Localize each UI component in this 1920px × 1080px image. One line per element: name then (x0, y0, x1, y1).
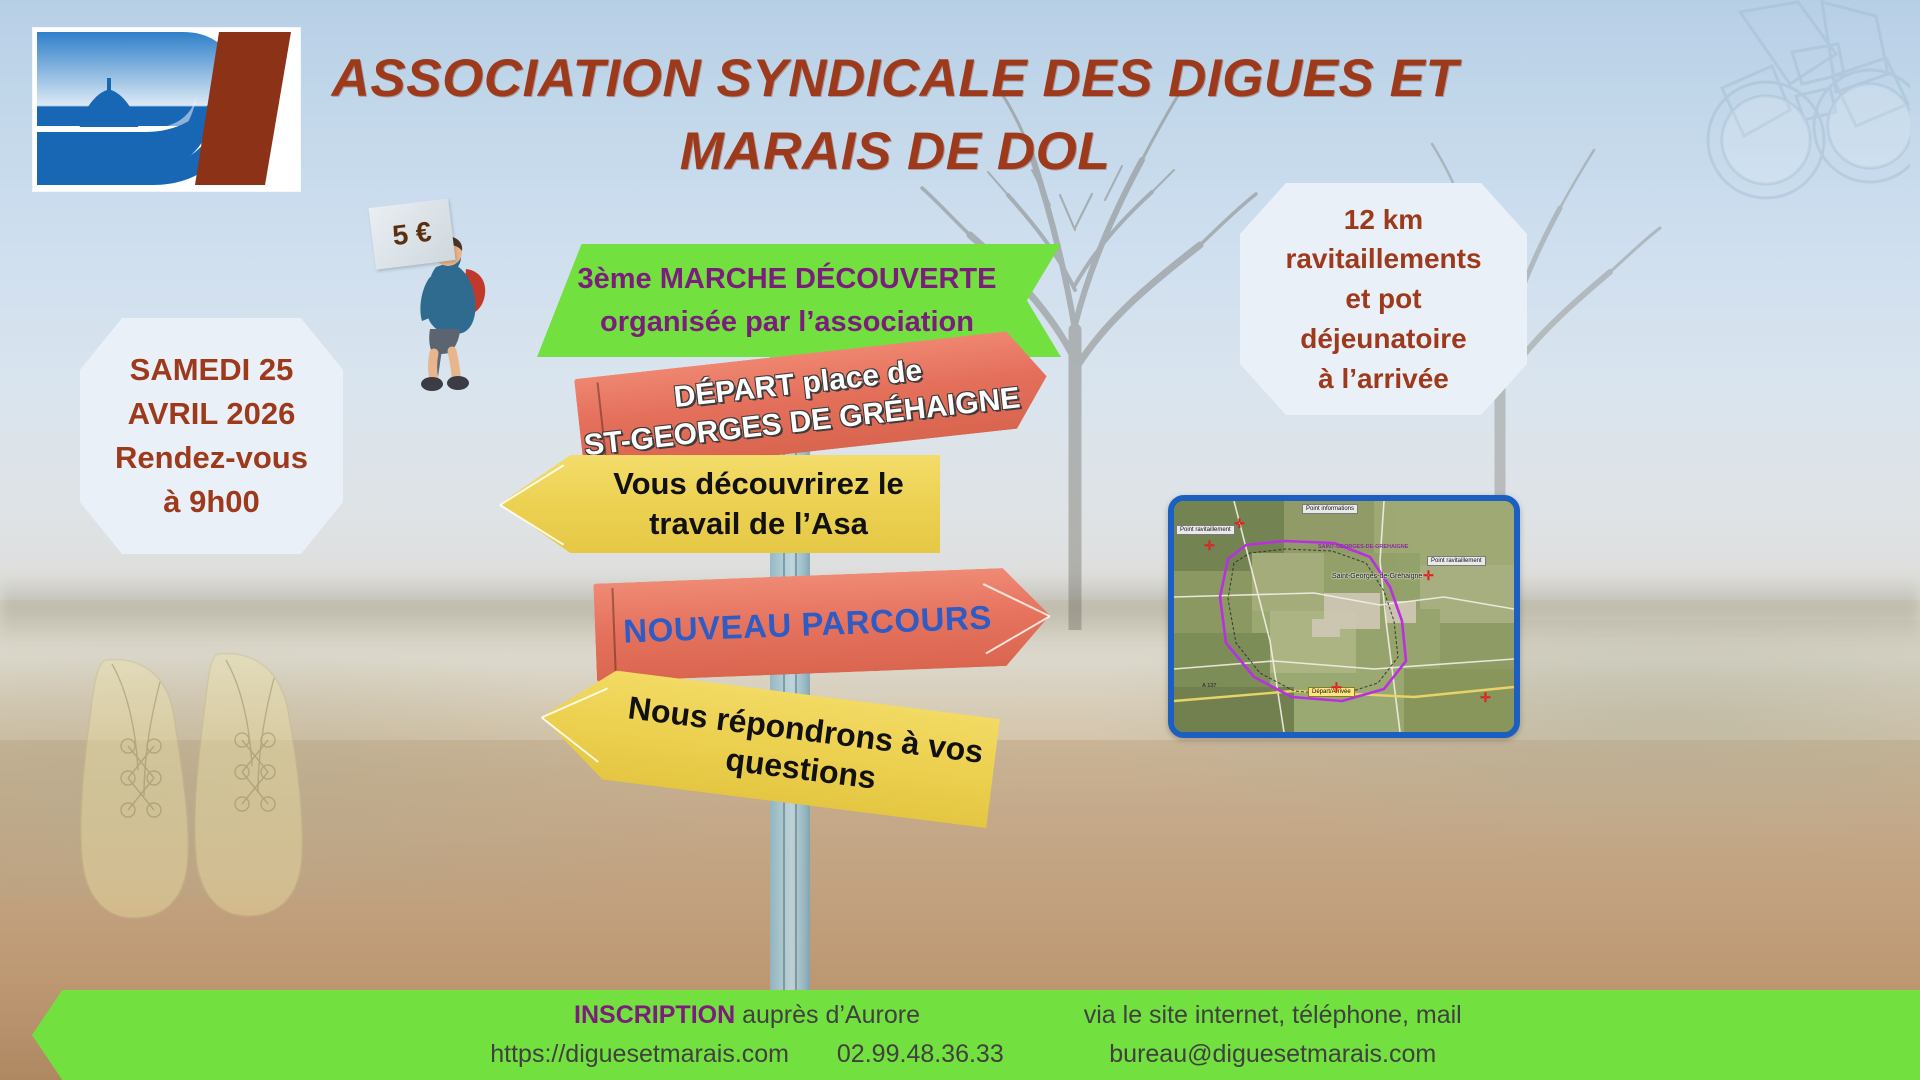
date-line-2: AVRIL 2026 (115, 392, 308, 436)
organisation-logo (33, 28, 300, 191)
map-marker-5-icon: ✛ (1480, 691, 1491, 704)
date-line-3: Rendez-vous (115, 436, 308, 480)
route-map-image (1174, 501, 1514, 732)
map-label-ravitaillement-right: Point ravitaillement (1427, 556, 1486, 566)
footer-inscription-label: INSCRIPTION (574, 1001, 735, 1029)
map-label-commune-caps: SAINT-GEORGES-DE-GREHAIGNE (1318, 544, 1408, 550)
footer: INSCRIPTION auprès d’Aurore https://digu… (32, 990, 1920, 1080)
footer-inscription-row: INSCRIPTION auprès d’Aurore (490, 996, 1003, 1035)
sign-decouvrir-line2: travail de l’Asa (649, 504, 868, 544)
poster-root: ASSOCIATION SYNDICALE DES DIGUES ET MARA… (0, 0, 1920, 1080)
info-line-2: ravitaillements (1285, 239, 1481, 279)
map-label-commune: Saint-Georges-de-Gréhaigne (1332, 573, 1422, 580)
sign-decouvrir: Vous découvrirez le travail de l’Asa (500, 455, 940, 553)
date-line-1: SAMEDI 25 (115, 348, 308, 392)
hiking-shoes-icon (50, 620, 380, 940)
map-marker-1-icon: ✛ (1234, 517, 1245, 530)
page-title-line1: ASSOCIATION SYNDICALE DES DIGUES ET (330, 42, 1460, 115)
footer-email[interactable]: bureau@diguesetmarais.com (1084, 1035, 1462, 1074)
map-label-point-informations: Point informations (1302, 504, 1358, 514)
footer-phone[interactable]: 02.99.48.36.33 (837, 1040, 1004, 1068)
info-line-1: 12 km (1285, 200, 1481, 240)
date-line-4: à 9h00 (115, 480, 308, 524)
info-line-3: et pot (1285, 279, 1481, 319)
map-marker-2-icon: ✛ (1204, 539, 1215, 552)
green-banner-line2: organisée par l’association (600, 301, 974, 343)
sign-parcours-text: NOUVEAU PARCOURS (593, 566, 1051, 681)
map-label-road: A 137 (1202, 683, 1216, 689)
sign-parcours: NOUVEAU PARCOURS (593, 566, 1051, 681)
map-marker-3-icon: ✛ (1423, 569, 1434, 582)
price-sign: 5 € (369, 198, 456, 269)
info-line-4: déjeunatoire (1285, 319, 1481, 359)
page-title: ASSOCIATION SYNDICALE DES DIGUES ET MARA… (330, 42, 1460, 188)
footer-left-column: INSCRIPTION auprès d’Aurore https://digu… (490, 996, 1003, 1074)
footer-inscription-rest: auprès d’Aurore (735, 1001, 920, 1029)
distance-info-box: 12 km ravitaillements et pot déjeunatoir… (1240, 183, 1527, 415)
map-marker-4-icon: ✛ (1331, 681, 1342, 694)
price-label: 5 € (391, 216, 434, 253)
footer-website[interactable]: https://diguesetmarais.com (490, 1040, 789, 1068)
footer-right-column: via le site internet, téléphone, mail bu… (1084, 996, 1462, 1074)
map-label-ravitaillement-left: Point ravitaillement (1176, 525, 1235, 535)
green-banner-line1: 3ème MARCHE DÉCOUVERTE (578, 258, 997, 300)
sign-decouvrir-text: Vous découvrirez le travail de l’Asa (585, 455, 932, 553)
info-line-5: à l’arrivée (1285, 359, 1481, 399)
sign-decouvrir-line1: Vous découvrirez le (613, 464, 904, 504)
route-map[interactable]: Point ravitaillement Point informations … (1168, 495, 1520, 738)
binoculars-icon (1440, 0, 1910, 230)
footer-contact-row: https://diguesetmarais.com 02.99.48.36.3… (490, 1035, 1003, 1074)
date-info-box: SAMEDI 25 AVRIL 2026 Rendez-vous à 9h00 (80, 318, 343, 554)
page-title-line2: MARAIS DE DOL (330, 115, 1460, 188)
footer-channels: via le site internet, téléphone, mail (1084, 996, 1462, 1035)
